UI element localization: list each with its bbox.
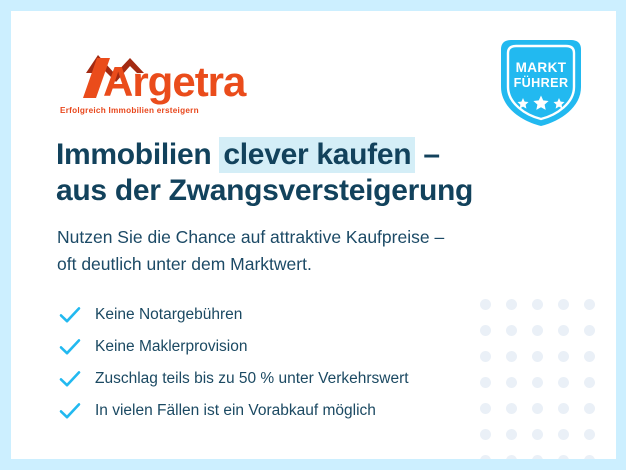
dot [506, 377, 517, 388]
dot [584, 403, 595, 414]
dot [506, 429, 517, 440]
dot [584, 325, 595, 336]
dot [584, 455, 595, 459]
badge-line-2: FÜHRER [497, 76, 585, 91]
checklist-item: Keine Maklerprovision [57, 331, 507, 363]
headline-line2: aus der Zwangsversteigerung [56, 174, 473, 207]
subheadline-line2: oft deutlich unter dem Marktwert. [57, 254, 312, 274]
headline-highlight: clever kaufen [219, 137, 415, 173]
markt-fuehrer-badge: MARKT FÜHRER [497, 37, 585, 129]
check-icon [57, 400, 83, 422]
check-icon [57, 368, 83, 390]
dot [558, 455, 569, 459]
badge-stars [497, 95, 585, 116]
dot [558, 325, 569, 336]
check-icon [57, 304, 83, 326]
dot [584, 377, 595, 388]
promo-banner: Argetra Erfolgreich Immobilien ersteiger… [0, 0, 626, 470]
dot [532, 429, 543, 440]
dot [506, 455, 517, 459]
headline: Immobilien clever kaufen – aus der Zwang… [56, 137, 536, 209]
svg-text:Argetra: Argetra [103, 58, 247, 105]
dot [584, 351, 595, 362]
dot [558, 429, 569, 440]
headline-line1-pre: Immobilien [56, 138, 219, 171]
dot [506, 351, 517, 362]
dot [532, 377, 543, 388]
badge-text: MARKT FÜHRER [497, 61, 585, 90]
dot [558, 299, 569, 310]
argetra-logo-mark: Argetra [58, 46, 258, 108]
checklist-item-label: Keine Maklerprovision [95, 337, 248, 357]
dot [532, 351, 543, 362]
checklist-item: In vielen Fällen ist ein Vorabkauf mögli… [57, 395, 507, 427]
dot [532, 403, 543, 414]
star-icon [514, 95, 568, 111]
benefits-checklist: Keine NotargebührenKeine Maklerprovision… [57, 299, 507, 427]
checklist-item-label: Keine Notargebühren [95, 305, 242, 325]
dot [506, 403, 517, 414]
dot [532, 325, 543, 336]
dot [532, 455, 543, 459]
dot [506, 299, 517, 310]
checklist-item-label: Zuschlag teils bis zu 50 % unter Verkehr… [95, 369, 409, 389]
headline-line1-post: – [415, 138, 439, 171]
dot [558, 377, 569, 388]
dot [584, 299, 595, 310]
dot [480, 455, 491, 459]
check-icon [57, 336, 83, 358]
subheadline-line1: Nutzen Sie die Chance auf attraktive Kau… [57, 227, 444, 247]
subheadline: Nutzen Sie die Chance auf attraktive Kau… [57, 224, 547, 278]
checklist-item: Keine Notargebühren [57, 299, 507, 331]
dot [480, 429, 491, 440]
argetra-logo[interactable]: Argetra Erfolgreich Immobilien ersteiger… [58, 46, 258, 126]
banner-canvas: Argetra Erfolgreich Immobilien ersteiger… [11, 11, 616, 459]
dot [558, 403, 569, 414]
checklist-item-label: In vielen Fällen ist ein Vorabkauf mögli… [95, 401, 376, 421]
dot [584, 429, 595, 440]
checklist-item: Zuschlag teils bis zu 50 % unter Verkehr… [57, 363, 507, 395]
badge-line-1: MARKT [516, 60, 567, 75]
dot [532, 299, 543, 310]
dot [506, 325, 517, 336]
dot [558, 351, 569, 362]
logo-tagline: Erfolgreich Immobilien ersteigern [60, 106, 199, 115]
